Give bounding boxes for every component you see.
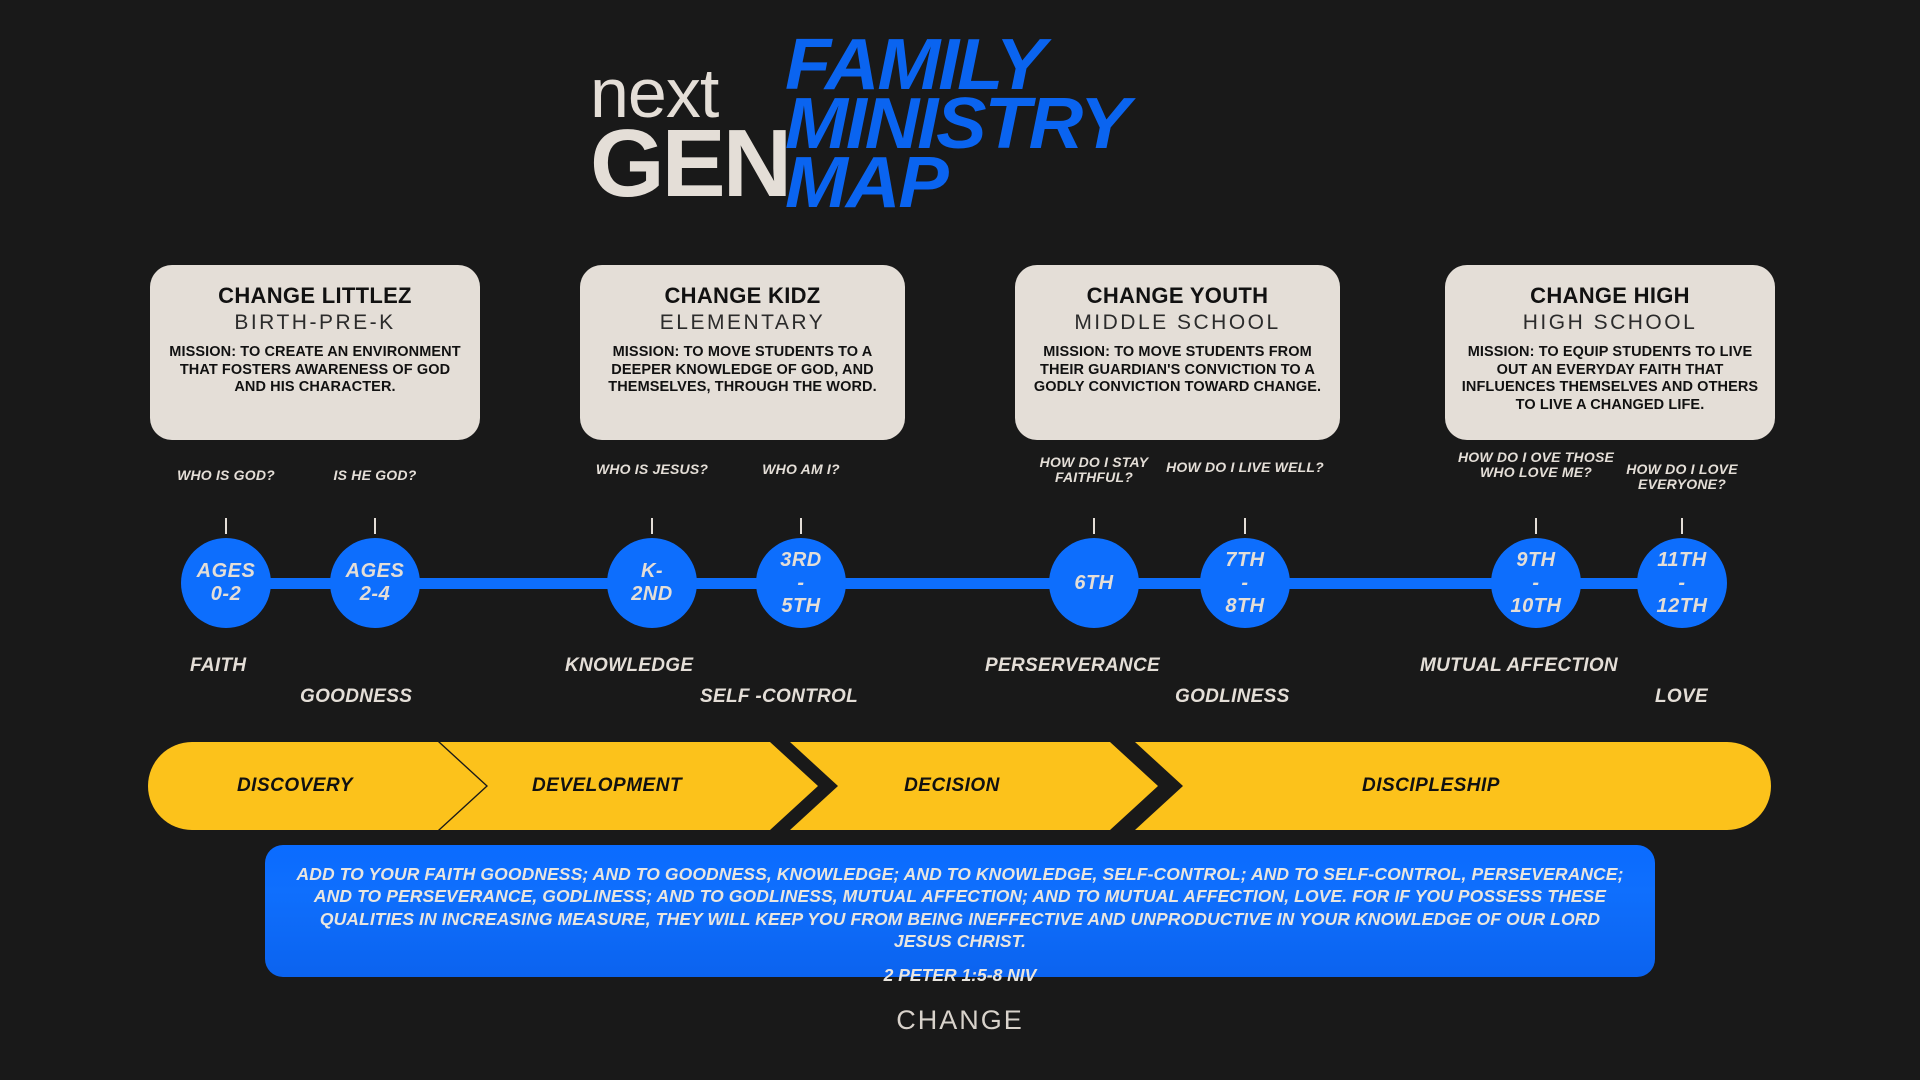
timeline-node-question: HOW DO I LOVE EVERYONE? [1597, 462, 1767, 492]
card-mission: MISSION: TO MOVE STUDENTS TO A DEEPER KN… [594, 344, 891, 397]
node-age-line: 11TH [1657, 549, 1706, 572]
stage-label: DISCOVERY [148, 775, 486, 797]
node-age-line: 5TH [781, 595, 820, 618]
timeline-node-question: IS HE GOD? [290, 468, 460, 483]
virtue-label: SELF -CONTROL [700, 686, 858, 708]
timeline-node-question: HOW DO I STAY FAITHFUL? [1009, 455, 1179, 485]
timeline-node-question: WHO IS GOD? [141, 468, 311, 483]
ministry-card-high: CHANGE HIGH HIGH SCHOOL MISSION: TO EQUI… [1445, 265, 1775, 440]
card-mission: MISSION: TO CREATE AN ENVIRONMENT THAT F… [164, 344, 466, 397]
node-age-line: 6TH [1074, 572, 1113, 595]
node-connector-tick [651, 518, 653, 534]
timeline-node-circle[interactable]: AGES0-2 [181, 538, 271, 628]
node-age-line: - [1532, 572, 1539, 595]
node-age-line: 2ND [631, 583, 673, 606]
virtue-label: MUTUAL AFFECTION [1420, 655, 1618, 677]
node-age-line: 7TH [1225, 549, 1264, 572]
virtue-label: LOVE [1655, 686, 1708, 708]
node-age-line: AGES [346, 560, 405, 583]
virtue-label: GODLINESS [1175, 686, 1290, 708]
timeline-node-circle[interactable]: AGES2-4 [330, 538, 420, 628]
timeline-node-circle[interactable]: 3RD-5TH [756, 538, 846, 628]
stage-arrow-band: DISCOVERY DEVELOPMENT DECISION DISCIPLES… [0, 742, 1920, 842]
timeline-track [225, 578, 1685, 589]
stage-label: DISCIPLESHIP [1135, 775, 1771, 797]
card-subtitle: MIDDLE SCHOOL [1029, 311, 1326, 335]
scripture-text: ADD TO YOUR FAITH GOODNESS; AND TO GOODN… [291, 863, 1629, 953]
timeline-node-circle[interactable]: 7TH-8TH [1200, 538, 1290, 628]
card-subtitle: BIRTH-PRE-K [164, 311, 466, 335]
node-age-line: 3RD [780, 549, 822, 572]
card-mission: MISSION: TO EQUIP STUDENTS TO LIVE OUT A… [1459, 344, 1761, 415]
stage-arrow-decision[interactable]: DECISION [790, 742, 1158, 830]
infographic-root: next GEN FAMILY MINISTRY MAP CHANGE LITT… [0, 0, 1920, 1080]
ministry-card-littlez: CHANGE LITTLEZ BIRTH-PRE-K MISSION: TO C… [150, 265, 480, 440]
card-title: CHANGE YOUTH [1029, 283, 1326, 309]
stage-label: DEVELOPMENT [440, 775, 818, 797]
card-title: CHANGE LITTLEZ [164, 283, 466, 309]
virtue-label: PERSERVERANCE [985, 655, 1160, 677]
title-block: next GEN FAMILY MINISTRY MAP [575, 28, 1355, 213]
stage-arrow-discovery[interactable]: DISCOVERY [148, 742, 486, 830]
card-subtitle: ELEMENTARY [594, 311, 891, 335]
timeline-node-question: HOW DO I OVE THOSE WHO LOVE ME? [1451, 450, 1621, 480]
timeline-node-circle[interactable]: 11TH-12TH [1637, 538, 1727, 628]
virtue-label: GOODNESS [300, 686, 412, 708]
node-age-line: - [1678, 572, 1685, 595]
card-title: CHANGE KIDZ [594, 283, 891, 309]
card-subtitle: HIGH SCHOOL [1459, 311, 1761, 335]
node-age-line: - [797, 572, 804, 595]
card-mission: MISSION: TO MOVE STUDENTS FROM THEIR GUA… [1029, 344, 1326, 397]
node-connector-tick [1681, 518, 1683, 534]
node-connector-tick [225, 518, 227, 534]
scripture-panel: ADD TO YOUR FAITH GOODNESS; AND TO GOODN… [265, 845, 1655, 977]
node-age-line: AGES [197, 560, 256, 583]
node-age-line: 0-2 [211, 583, 241, 606]
node-age-line: K- [641, 560, 663, 583]
node-age-line: 12TH [1657, 595, 1708, 618]
node-connector-tick [800, 518, 802, 534]
node-age-line: 2-4 [360, 583, 390, 606]
stage-label: DECISION [790, 775, 1158, 797]
node-age-line: 9TH [1516, 549, 1555, 572]
node-connector-tick [1535, 518, 1537, 534]
timeline-node-question: WHO IS JESUS? [567, 462, 737, 477]
node-age-line: - [1241, 572, 1248, 595]
footer-brand: CHANGE [0, 1005, 1920, 1036]
node-age-line: 10TH [1511, 595, 1562, 618]
node-connector-tick [1093, 518, 1095, 534]
timeline-node-circle[interactable]: K-2ND [607, 538, 697, 628]
logo-gen-text: GEN [590, 116, 789, 212]
node-connector-tick [374, 518, 376, 534]
timeline-node-question: HOW DO I LIVE WELL? [1160, 460, 1330, 475]
timeline-node-question: WHO AM I? [716, 462, 886, 477]
page-title: FAMILY MINISTRY MAP [785, 36, 1112, 213]
timeline-node-circle[interactable]: 6TH [1049, 538, 1139, 628]
title-line-map: MAP [785, 154, 1128, 213]
stage-arrow-development[interactable]: DEVELOPMENT [440, 742, 818, 830]
virtue-label: KNOWLEDGE [565, 655, 693, 677]
node-connector-tick [1244, 518, 1246, 534]
ministry-card-youth: CHANGE YOUTH MIDDLE SCHOOL MISSION: TO M… [1015, 265, 1340, 440]
ministry-card-kidz: CHANGE KIDZ ELEMENTARY MISSION: TO MOVE … [580, 265, 905, 440]
stage-arrow-discipleship[interactable]: DISCIPLESHIP [1135, 742, 1771, 830]
virtue-label: FAITH [190, 655, 246, 677]
node-age-line: 8TH [1225, 595, 1264, 618]
card-title: CHANGE HIGH [1459, 283, 1761, 309]
scripture-reference: 2 PETER 1:5-8 NIV [291, 965, 1629, 986]
timeline-node-circle[interactable]: 9TH-10TH [1491, 538, 1581, 628]
